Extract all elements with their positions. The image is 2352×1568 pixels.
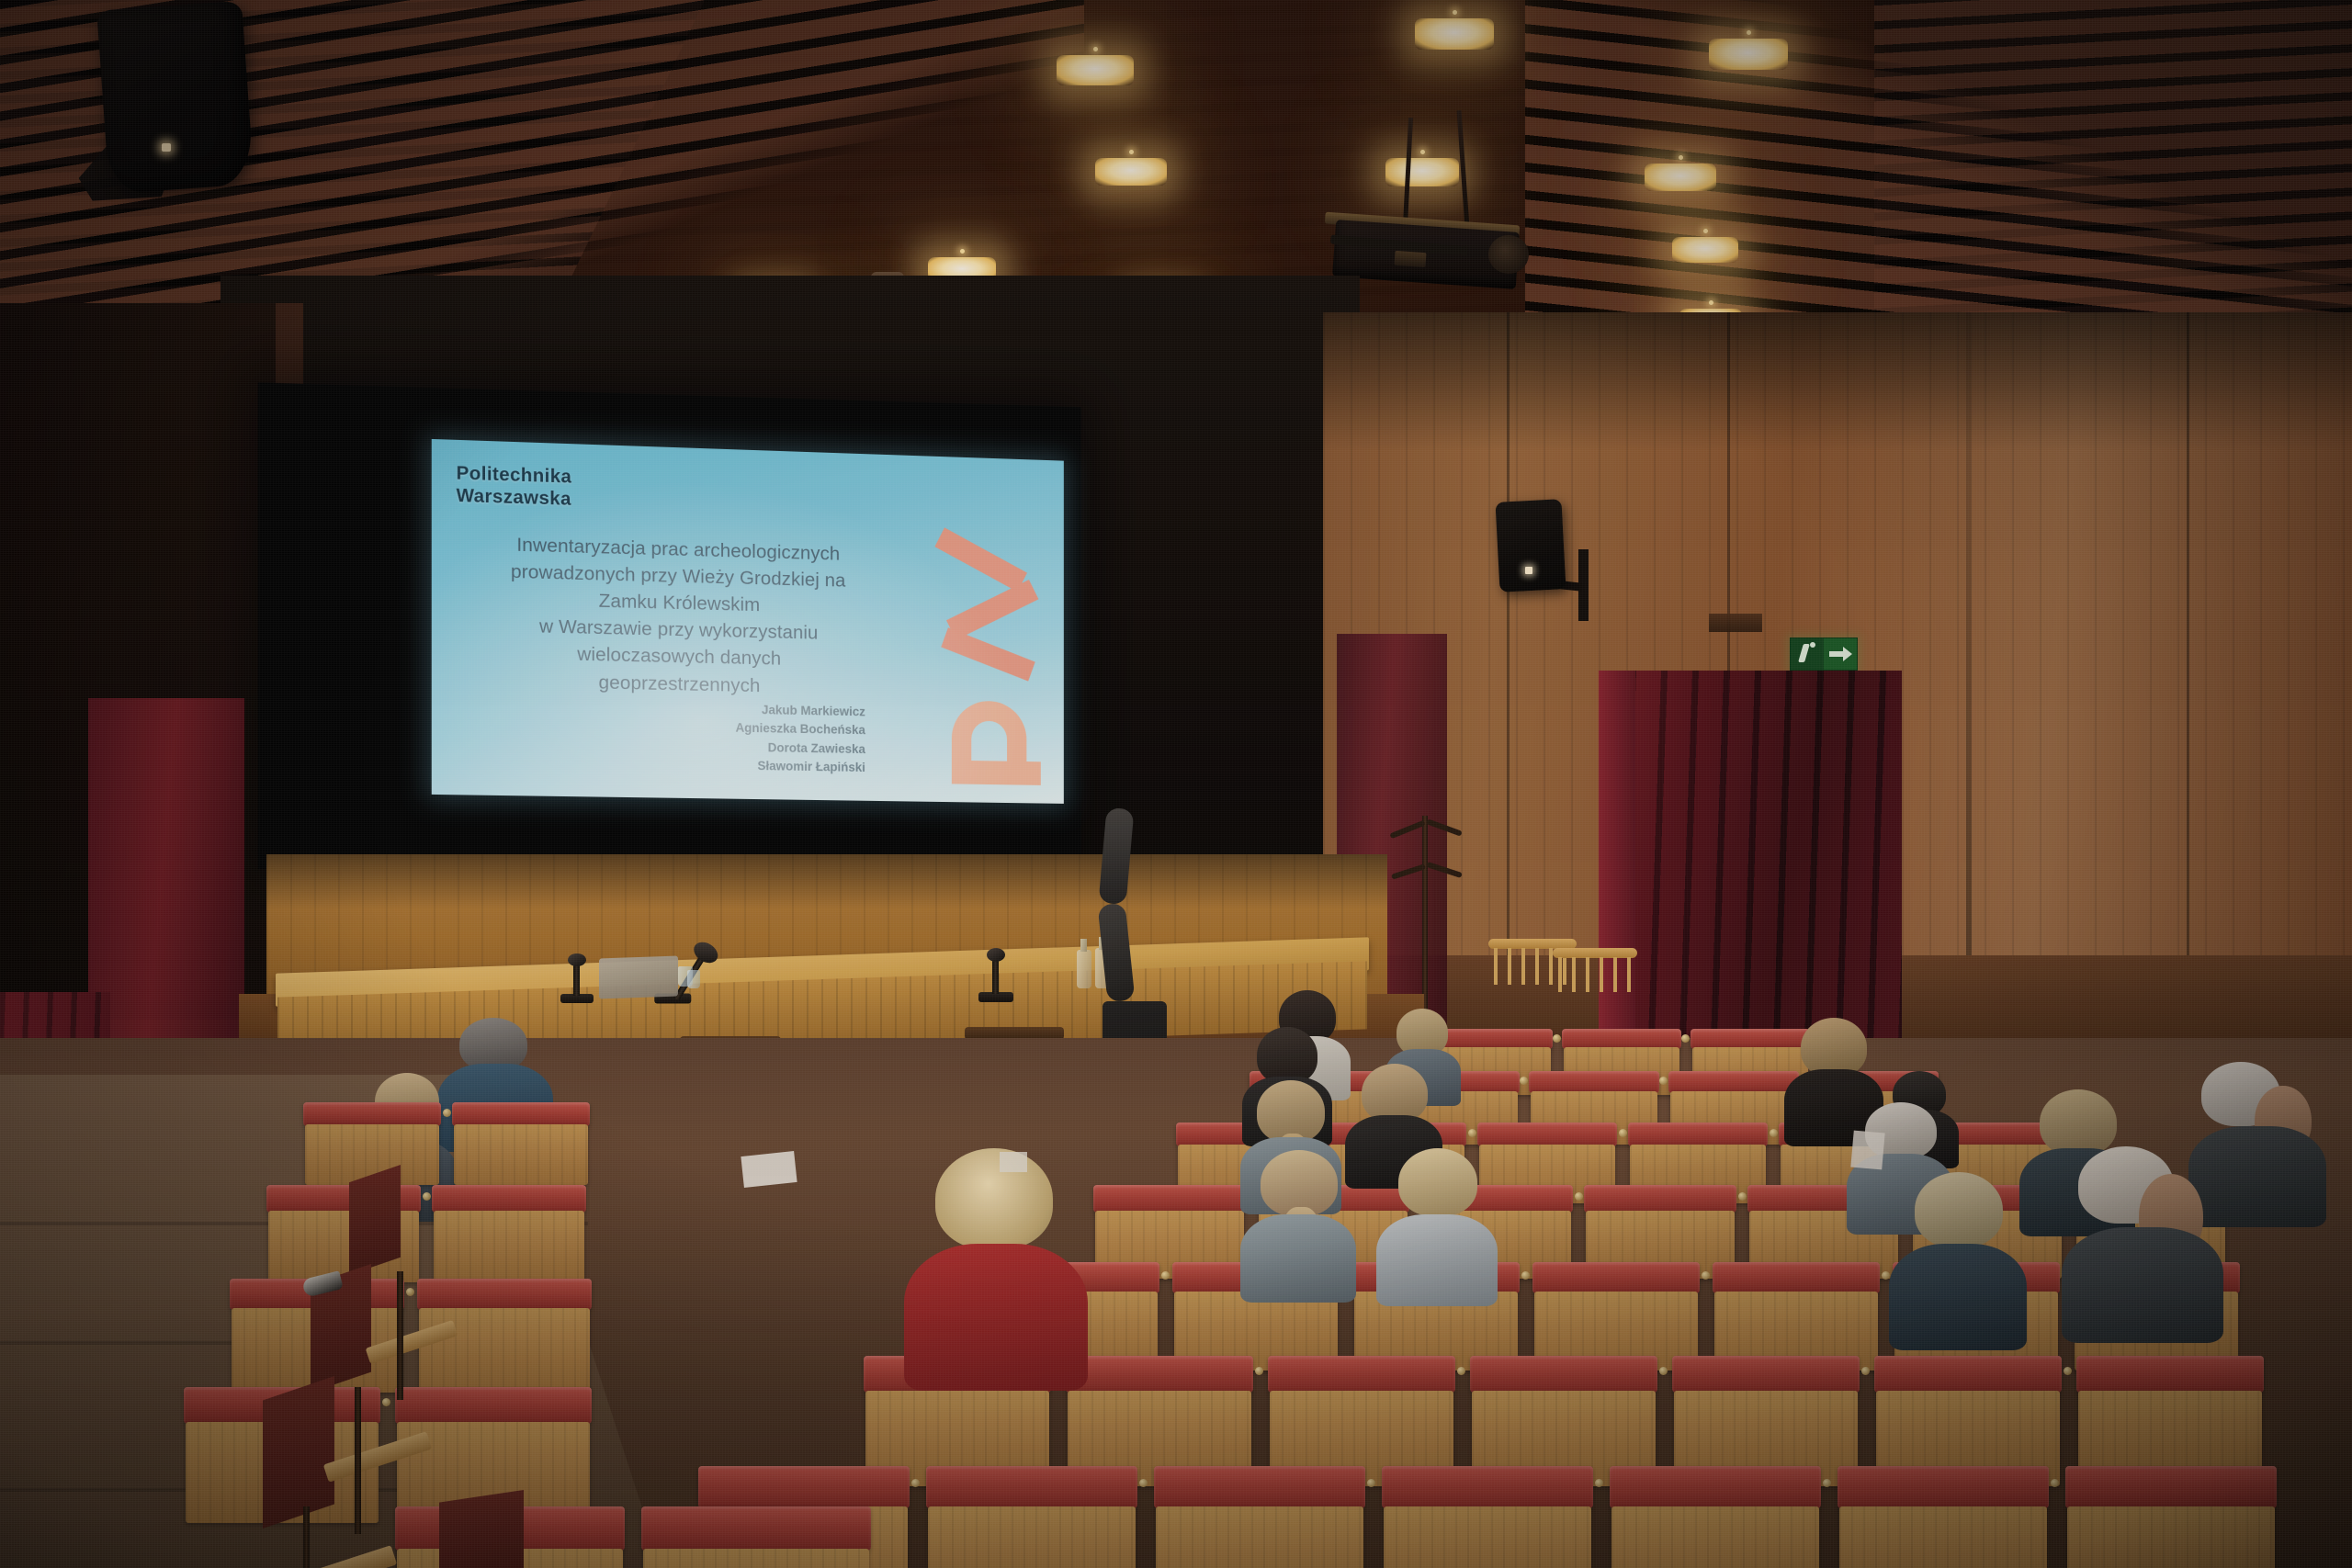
auditorium-photo: Politechnika Warszawska Inwentaryzacja p… bbox=[0, 0, 2352, 1568]
slide-author-list: Jakub Markiewicz Agnieszka Bocheńska Dor… bbox=[735, 701, 865, 777]
author-name: Sławomir Łapiński bbox=[735, 756, 865, 777]
speaker-led-indicator bbox=[162, 143, 171, 152]
running-man-icon bbox=[1791, 638, 1824, 670]
seat-leg bbox=[303, 1506, 310, 1568]
presenter-arm-left bbox=[1099, 807, 1135, 905]
seat-leg bbox=[397, 1271, 403, 1400]
wall-panel-seam bbox=[1507, 312, 1510, 955]
ceiling-speaker-left bbox=[96, 1, 254, 195]
emergency-exit-sign bbox=[1790, 637, 1858, 671]
ceiling-light bbox=[1385, 158, 1459, 186]
slide-title: Inwentaryzacja prac archeologicznych pro… bbox=[460, 530, 895, 702]
ceiling-light bbox=[1709, 39, 1788, 70]
ceiling-light bbox=[1645, 164, 1716, 191]
right-wall-shadow bbox=[1323, 312, 2352, 450]
seat-leg bbox=[355, 1387, 361, 1534]
paper-on-seat bbox=[1850, 1131, 1884, 1170]
author-name: Jakub Markiewicz bbox=[735, 701, 865, 722]
ceiling-light bbox=[1057, 55, 1134, 85]
pw-logo-text: Politechnika Warszawska bbox=[457, 462, 572, 511]
presenter-speaker bbox=[1102, 808, 1222, 1038]
wall-speaker-right bbox=[1495, 499, 1566, 592]
presenter-arm-right bbox=[1098, 903, 1136, 1003]
paper-on-seat bbox=[741, 1151, 797, 1188]
pw-brand-mark-icon bbox=[944, 522, 1049, 787]
seat-row-end-panel bbox=[349, 1165, 401, 1275]
presentation-slide: Politechnika Warszawska Inwentaryzacja p… bbox=[432, 439, 1064, 804]
drinking-glass bbox=[687, 970, 700, 988]
seat-row-end-panel bbox=[263, 1376, 334, 1529]
author-name: Agnieszka Bocheńska bbox=[735, 719, 865, 740]
speaker-led-indicator bbox=[1525, 567, 1532, 574]
water-bottle bbox=[1077, 950, 1091, 988]
wall-panel-seam bbox=[2187, 312, 2189, 992]
arrow-right-icon bbox=[1824, 638, 1857, 670]
wall-panel-seam bbox=[1966, 312, 1972, 1010]
projector-vent bbox=[1394, 251, 1426, 267]
seat-row-end-panel bbox=[439, 1490, 524, 1568]
ceiling-light bbox=[1415, 18, 1494, 50]
paper-on-seat bbox=[1000, 1152, 1027, 1172]
wall-mounted-box bbox=[1709, 614, 1762, 632]
author-name: Dorota Zawieska bbox=[735, 738, 865, 759]
water-bottle-neck bbox=[1080, 939, 1087, 952]
pw-logo-line2: Warszawska bbox=[457, 485, 572, 512]
ceiling-light bbox=[1095, 158, 1167, 186]
laptop-on-table bbox=[599, 955, 678, 998]
ceiling-light bbox=[1672, 237, 1738, 263]
